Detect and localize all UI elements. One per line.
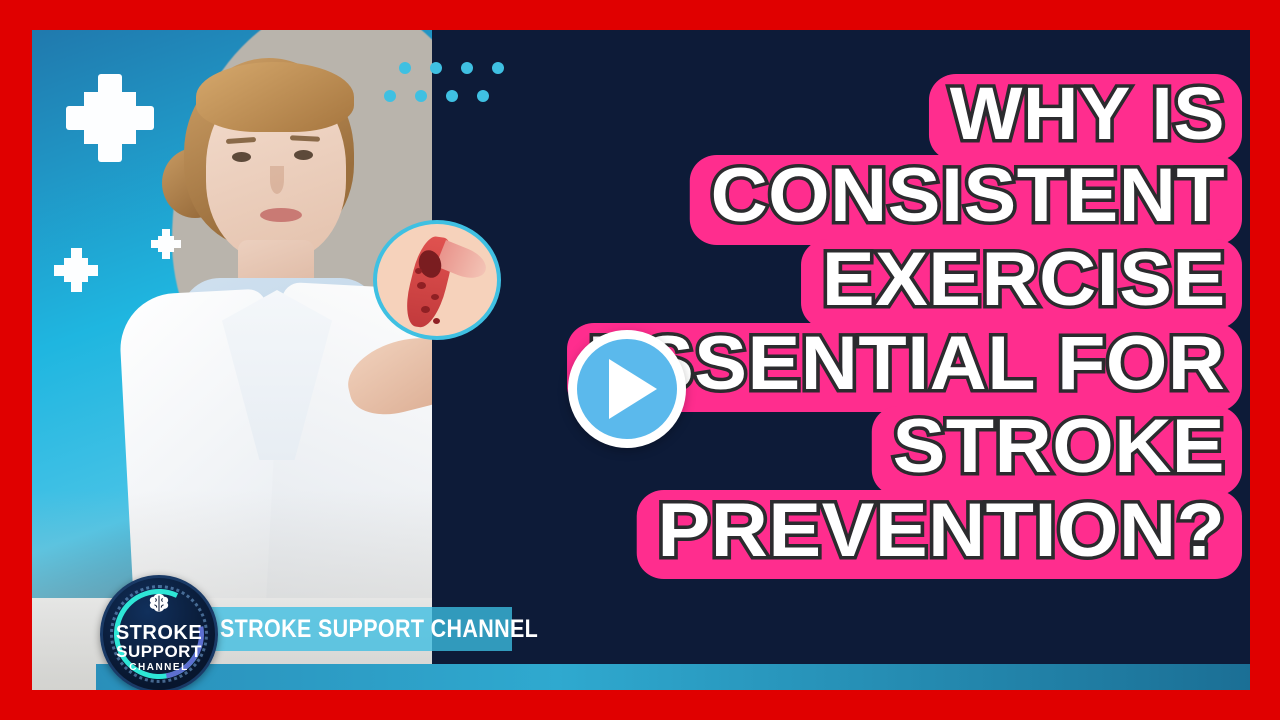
medical-cross-icon (84, 92, 136, 144)
bottom-accent-strip (96, 664, 1250, 690)
doctor-photo-zone (32, 30, 432, 690)
video-thumbnail-frame: WHY IS CONSISTENT EXERCISE ESSENTIAL FOR… (0, 0, 1280, 720)
title-line-6-text: PREVENTION? (637, 490, 1242, 580)
logo-text-channel: CHANNEL (103, 662, 215, 673)
mouth (260, 208, 302, 222)
title-line-3-text: EXERCISE (801, 239, 1242, 329)
medical-cross-icon (64, 258, 88, 282)
thumbnail-canvas: WHY IS CONSISTENT EXERCISE ESSENTIAL FOR… (32, 30, 1250, 690)
medical-cross-icon (158, 236, 174, 252)
title-line-5-text: STROKE (872, 406, 1242, 496)
channel-logo-badge[interactable]: STROKE SUPPORT CHANNEL (100, 575, 218, 690)
channel-name-banner: STROKE SUPPORT CHANNEL (172, 607, 512, 651)
logo-text-support: SUPPORT (103, 642, 215, 662)
title-line-3: EXERCISE (406, 239, 1242, 329)
title-line-6: PREVENTION? (406, 490, 1242, 580)
brain-icon (144, 592, 174, 614)
channel-name-text: STROKE SUPPORT CHANNEL (220, 615, 538, 644)
nose (270, 166, 284, 194)
title-line-1: WHY IS (406, 74, 1242, 161)
title-line-2-text: CONSISTENT (690, 155, 1242, 245)
title-line-5: STROKE (406, 406, 1242, 496)
eye-right (294, 150, 313, 160)
play-button[interactable] (568, 330, 686, 448)
title-line-1-text: WHY IS (929, 74, 1242, 161)
video-title: WHY IS CONSISTENT EXERCISE ESSENTIAL FOR… (406, 74, 1242, 573)
eye-left (232, 152, 251, 162)
title-line-4: ESSENTIAL FOR (406, 323, 1242, 413)
title-line-2: CONSISTENT (406, 155, 1242, 245)
play-icon (609, 359, 657, 419)
hair-fringe (196, 62, 354, 132)
